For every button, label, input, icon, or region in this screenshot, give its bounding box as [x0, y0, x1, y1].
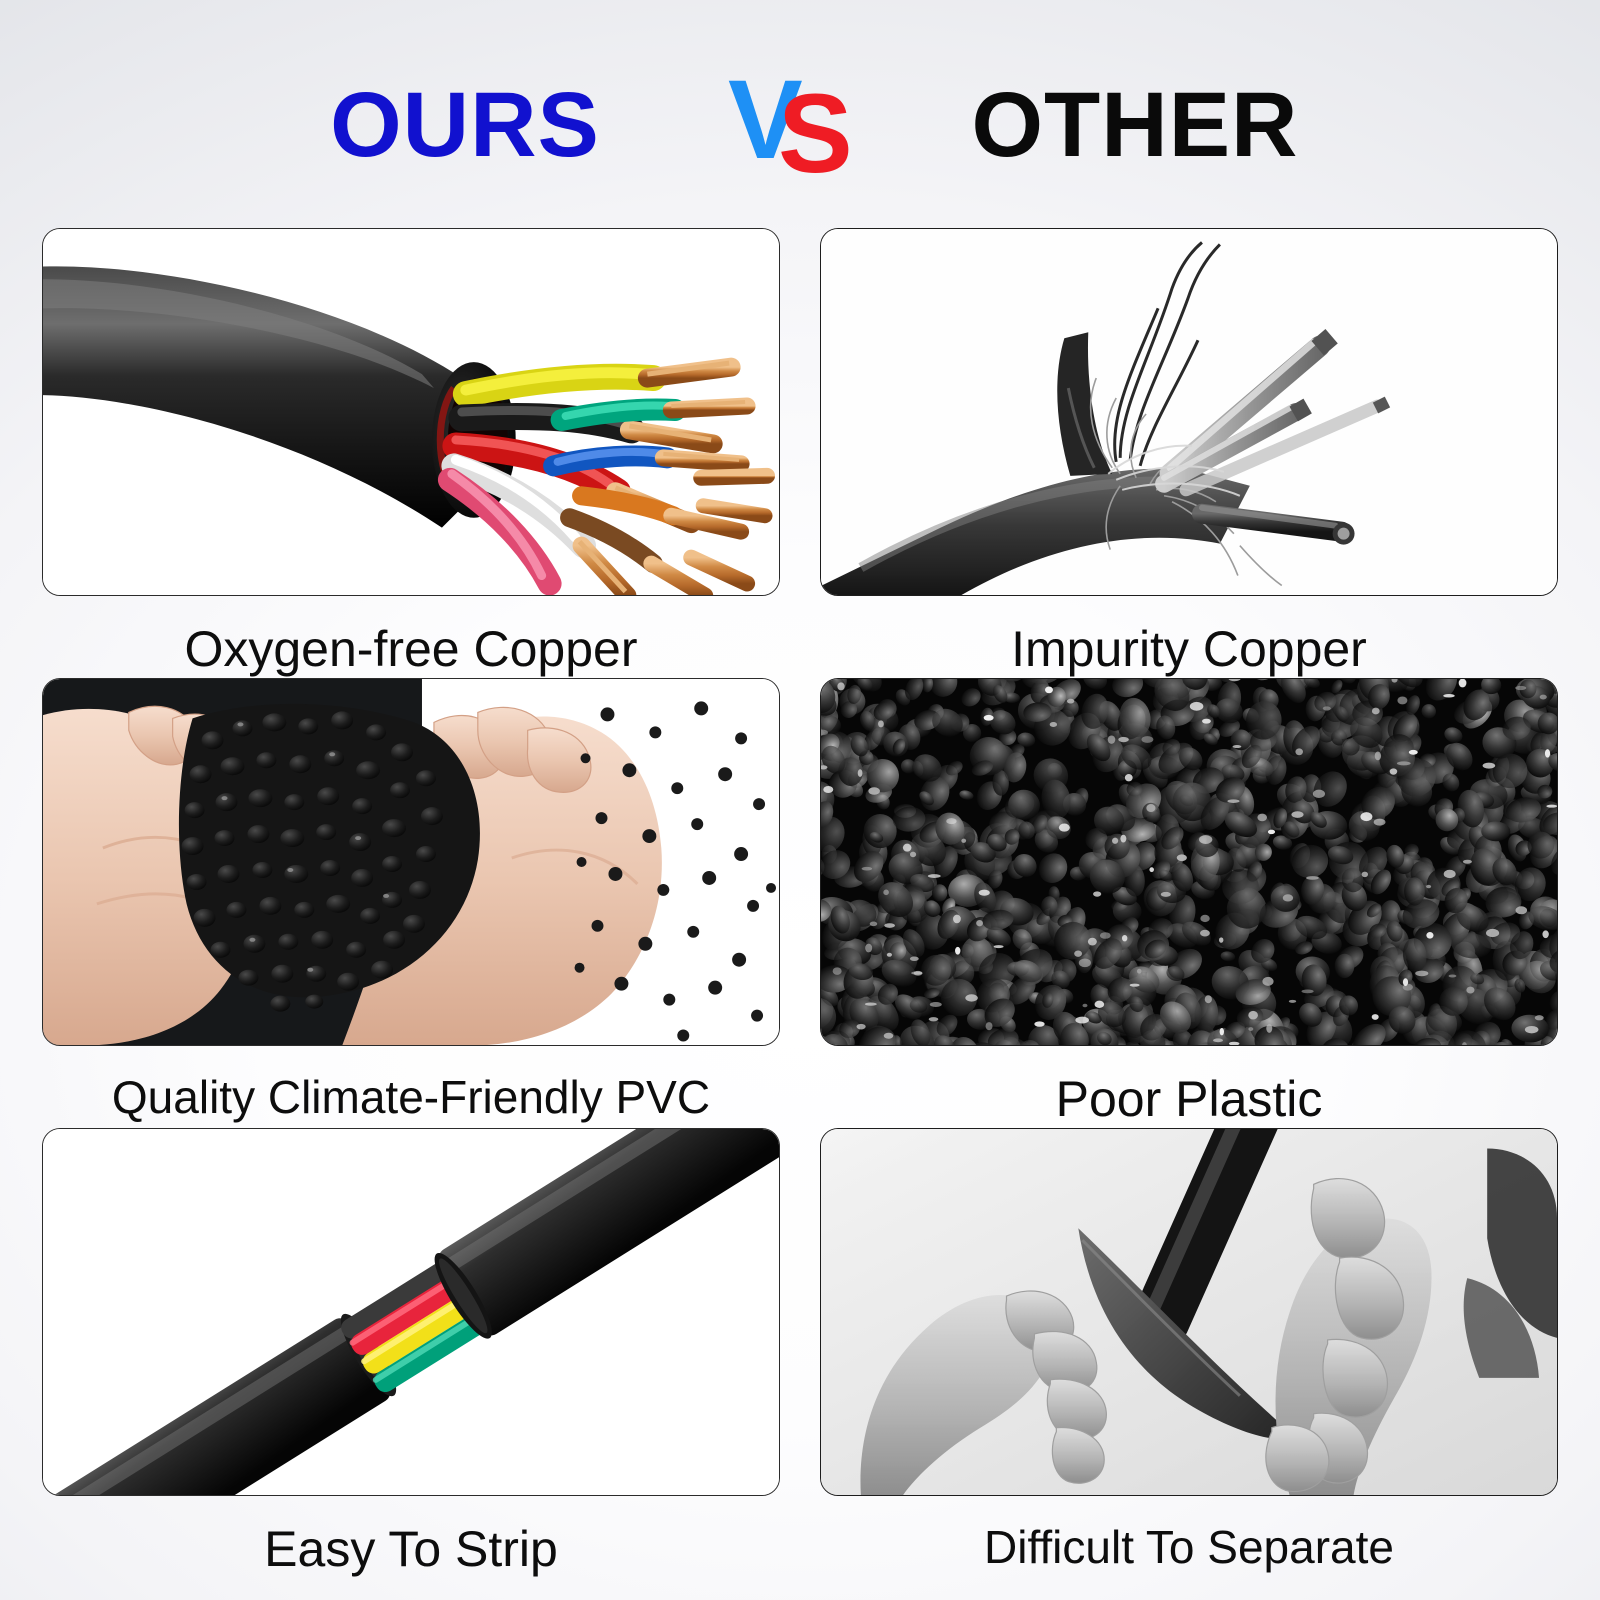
cell-other-poor-plastic: Poor Plastic: [820, 678, 1558, 1124]
caption-other-row1: Impurity Copper: [820, 596, 1558, 674]
cell-ours-oxygen-free-copper: Oxygen-free Copper: [42, 228, 780, 674]
caption-ours-row3: Easy To Strip: [42, 1496, 780, 1574]
other-title: OTHER: [900, 79, 1370, 171]
vs-badge: V S: [700, 60, 900, 190]
stripped-cable-illustration: [43, 1129, 779, 1495]
vs-letter-s: S: [778, 78, 853, 190]
image-panel-oxygen-free-copper: [42, 228, 780, 596]
image-panel-impurity-copper: [820, 228, 1558, 596]
ours-title: OURS: [230, 79, 700, 171]
dark-granule-field-illustration: [821, 679, 1557, 1045]
comparison-header: OURS V S OTHER: [0, 60, 1600, 190]
hands-knife-cutting-cable-illustration: [821, 1129, 1557, 1495]
image-panel-quality-pvc: [42, 678, 780, 1046]
caption-ours-row1: Oxygen-free Copper: [42, 596, 780, 674]
cable-copper-illustration: [43, 229, 779, 595]
image-panel-easy-to-strip: [42, 1128, 780, 1496]
caption-ours-row2: Quality Climate-Friendly PVC: [42, 1046, 780, 1120]
caption-other-row2: Poor Plastic: [820, 1046, 1558, 1124]
cell-ours-easy-to-strip: Easy To Strip: [42, 1128, 780, 1574]
image-panel-difficult-to-separate: [820, 1128, 1558, 1496]
hands-holding-pellets-illustration: [43, 679, 779, 1045]
image-panel-poor-plastic: [820, 678, 1558, 1046]
frayed-cable-illustration: [821, 229, 1557, 595]
cell-ours-quality-pvc: Quality Climate-Friendly PVC: [42, 678, 780, 1120]
cell-other-impurity-copper: Impurity Copper: [820, 228, 1558, 674]
comparison-grid: Oxygen-free Copper: [0, 190, 1600, 1600]
cell-other-difficult-to-separate: Difficult To Separate: [820, 1128, 1558, 1570]
caption-other-row3: Difficult To Separate: [820, 1496, 1558, 1570]
